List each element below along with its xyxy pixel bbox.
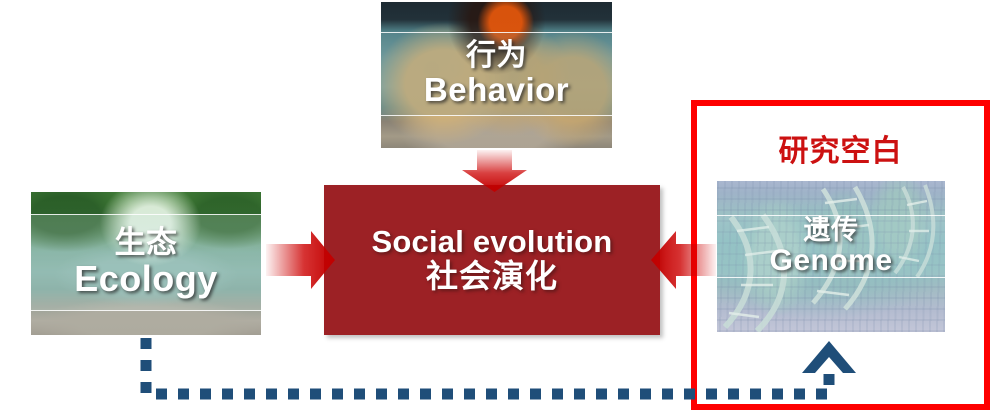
behavior-label-band: 行为 Behavior (381, 32, 612, 116)
node-social-evolution[interactable]: Social evolution 社会演化 (324, 185, 660, 335)
central-label-cn: 社会演化 (426, 259, 558, 294)
genome-label-band: 遗传 Genome (717, 215, 945, 278)
behavior-label-cn: 行为 (466, 40, 527, 72)
behavior-label-en: Behavior (424, 72, 569, 108)
ecology-label-band: 生态 Ecology (31, 214, 261, 311)
genome-label-cn: 遗传 (804, 216, 859, 245)
node-ecology[interactable]: 生态 Ecology (31, 192, 261, 335)
ecology-label-cn: 生态 (115, 226, 178, 259)
central-label-en: Social evolution (372, 225, 613, 259)
node-genome[interactable]: 遗传 Genome (717, 181, 945, 332)
genome-label-en: Genome (769, 245, 892, 277)
ecology-label-en: Ecology (74, 260, 218, 299)
node-behavior[interactable]: 行为 Behavior (381, 2, 612, 148)
diagram-canvas: 行为 Behavior 生态 Ecology 研究空白 (0, 0, 1004, 420)
research-gap-label: 研究空白 (691, 126, 990, 170)
